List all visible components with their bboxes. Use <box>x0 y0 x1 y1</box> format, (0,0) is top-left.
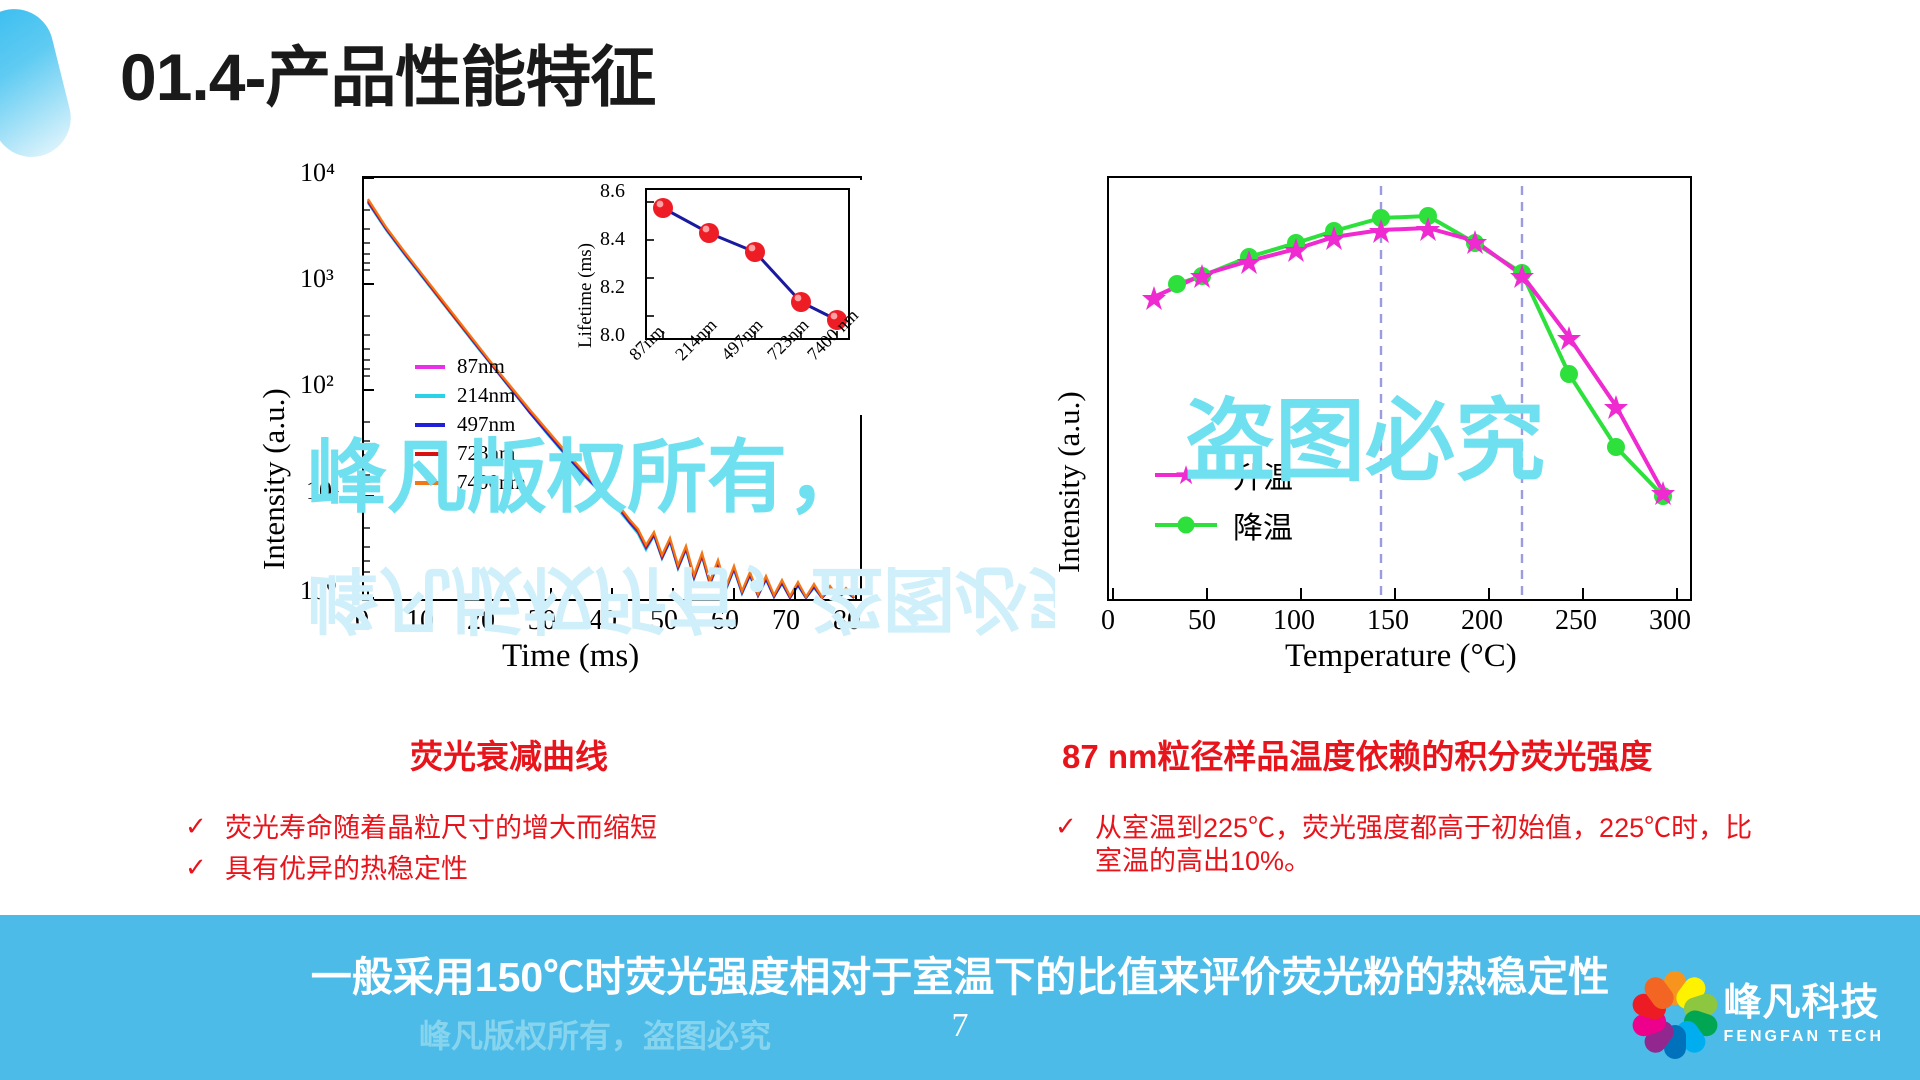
right-chart-xtick-150: 150 <box>1367 605 1409 637</box>
legend-swatch-cooling <box>1155 523 1217 527</box>
left-bullet-list: ✓ 荧光寿命随着晶粒尺寸的增大而缩短 ✓ 具有优异的热稳定性 <box>185 812 905 894</box>
left-caption-title: 荧光衰减曲线 <box>410 730 608 778</box>
left-chart-xtick-50: 50 <box>650 605 678 637</box>
left-chart-ytick-1e1: 10¹ <box>306 476 340 506</box>
left-chart-xtick-20: 20 <box>467 605 495 637</box>
legend-item-87nm: 87nm <box>415 352 526 381</box>
left-chart-xtick-10: 10 <box>406 605 434 637</box>
right-bullet-list: ✓ 从室温到225℃，荧光强度都高于初始值，225℃时，比室温的高出10%。 <box>1055 812 1755 886</box>
inset-ytick-8.0: 8.0 <box>600 324 625 347</box>
legend-item-497nm: 497nm <box>415 410 526 439</box>
right-chart-xtick-100: 100 <box>1273 605 1315 637</box>
inset-y-axis-label: Lifetime (ms) <box>575 198 597 348</box>
legend-item-heating: ★ 升温 <box>1155 450 1293 500</box>
legend-swatch-heating: ★ <box>1155 473 1217 477</box>
banner-text: 一般采用150℃时荧光强度相对于室温下的比值来评价荧光粉的热稳定性 <box>0 943 1920 1003</box>
decorative-pill <box>0 1 79 165</box>
legend-item-723nm: 723nm <box>415 439 526 468</box>
company-logo: 峰凡科技 FENGFAN TECH <box>1636 976 1884 1054</box>
inset-svg <box>647 190 848 338</box>
left-chart-x-axis-label: Time (ms) <box>502 638 639 675</box>
legend-label-heating: 升温 <box>1233 453 1293 497</box>
inset-lifetime-chart: Lifetime (ms) 8.6 8.4 8.2 8.0 <box>567 180 867 415</box>
legend-swatch-214nm <box>415 394 445 398</box>
left-chart-ytick-1e2: 10² <box>300 370 334 400</box>
circle-icon <box>1178 517 1195 534</box>
legend-label-214nm: 214nm <box>457 383 515 408</box>
bullet-text: 从室温到225℃，荧光强度都高于初始值，225℃时，比室温的高出10%。 <box>1095 812 1755 878</box>
legend-label-7400nm: 7400nm <box>457 470 526 495</box>
right-chart-xtick-200: 200 <box>1461 605 1503 637</box>
right-chart-xtick-50: 50 <box>1188 605 1216 637</box>
legend-item-214nm: 214nm <box>415 381 526 410</box>
right-caption-title: 87 nm粒径样品温度依赖的积分荧光强度 <box>1062 730 1652 778</box>
left-chart-xtick-70: 70 <box>772 605 800 637</box>
right-chart-xtick-250: 250 <box>1555 605 1597 637</box>
legend-swatch-723nm <box>415 452 445 456</box>
figure-decay-curves: Intensity (a.u.) 10⁴ 10³ 10² 10¹ 10⁰ <box>262 168 982 688</box>
page-title: 01.4-产品性能特征 <box>120 24 655 120</box>
left-chart-ytick-1e4: 10⁴ <box>300 158 335 188</box>
list-item: ✓ 荧光寿命随着晶粒尺寸的增大而缩短 <box>185 812 905 845</box>
check-icon: ✓ <box>1055 812 1095 842</box>
check-icon: ✓ <box>185 812 225 842</box>
legend-item-7400nm: 7400nm <box>415 468 526 497</box>
figure-temperature-dependence: Intensity (a.u.) <box>1055 168 1705 688</box>
inset-ytick-8.6: 8.6 <box>600 180 625 203</box>
star-icon: ★ <box>1174 462 1197 488</box>
flower-logo-icon <box>1636 976 1714 1054</box>
left-chart-xtick-30: 30 <box>528 605 556 637</box>
legend-label-87nm: 87nm <box>457 354 505 379</box>
legend-swatch-497nm <box>415 423 445 427</box>
right-chart-x-axis-label: Temperature (°C) <box>1285 638 1517 675</box>
inset-ytick-8.2: 8.2 <box>600 276 625 299</box>
list-item: ✓ 从室温到225℃，荧光强度都高于初始值，225℃时，比室温的高出10%。 <box>1055 812 1755 878</box>
inset-plot-area <box>645 188 850 340</box>
left-chart-xtick-40: 40 <box>589 605 617 637</box>
legend-label-723nm: 723nm <box>457 441 515 466</box>
inset-ytick-8.4: 8.4 <box>600 228 625 251</box>
right-chart-xtick-300: 300 <box>1649 605 1691 637</box>
left-chart-y-axis-label: Intensity (a.u.) <box>256 240 292 570</box>
bullet-text: 荧光寿命随着晶粒尺寸的增大而缩短 <box>225 812 657 845</box>
left-chart-ytick-1e3: 10³ <box>300 264 334 294</box>
right-chart-legend: ★ 升温 降温 <box>1155 450 1293 550</box>
logo-name-en: FENGFAN TECH <box>1724 1028 1884 1046</box>
logo-text-block: 峰凡科技 FENGFAN TECH <box>1724 984 1884 1046</box>
legend-label-497nm: 497nm <box>457 412 515 437</box>
check-icon: ✓ <box>185 853 225 883</box>
legend-item-cooling: 降温 <box>1155 500 1293 550</box>
left-chart-xtick-60: 60 <box>711 605 739 637</box>
left-chart-legend: 87nm 214nm 497nm 723nm 7400nm <box>415 352 526 497</box>
bullet-text: 具有优异的热稳定性 <box>225 853 468 886</box>
right-chart-y-axis-label: Intensity (a.u.) <box>1051 253 1087 573</box>
left-chart-xtick-80: 80 <box>833 605 861 637</box>
right-chart-xtick-0: 0 <box>1101 605 1115 637</box>
left-chart-ytick-1e0: 10⁰ <box>300 576 336 606</box>
list-item: ✓ 具有优异的热稳定性 <box>185 853 905 886</box>
legend-swatch-7400nm <box>415 481 445 485</box>
legend-swatch-87nm <box>415 365 445 369</box>
bottom-banner: 一般采用150℃时荧光强度相对于室温下的比值来评价荧光粉的热稳定性 峰凡版权所有… <box>0 915 1920 1080</box>
logo-name-cn: 峰凡科技 <box>1724 984 1884 1022</box>
legend-label-cooling: 降温 <box>1233 503 1293 547</box>
left-chart-xtick-0: 0 <box>355 605 369 637</box>
